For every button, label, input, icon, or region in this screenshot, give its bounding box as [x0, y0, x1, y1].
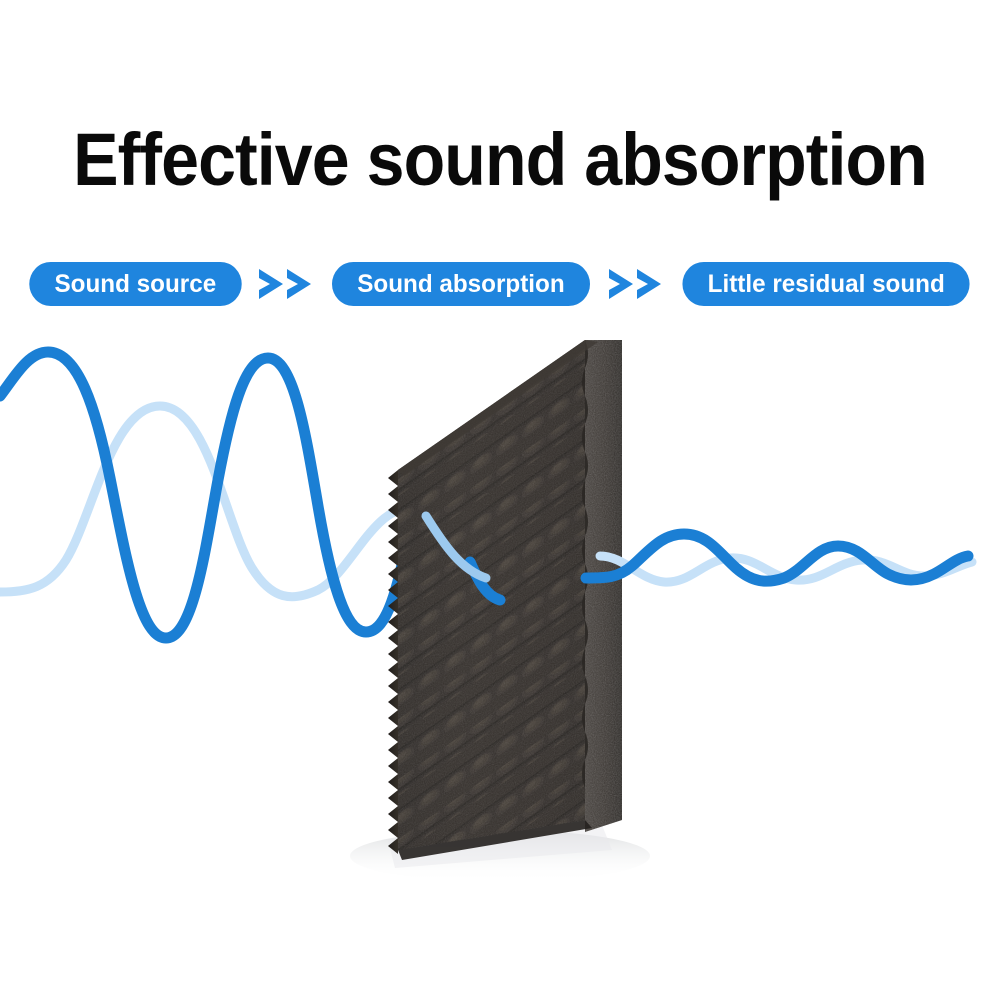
badge-little-residual-sound-label: Little residual sound [707, 262, 944, 306]
process-flow-row: Sound source Sound absorption Little res… [26, 260, 974, 308]
sound-absorption-infographic: Effective sound absorption Sound source … [0, 0, 1000, 1000]
badge-sound-absorption-label: Sound absorption [357, 262, 564, 306]
badge-sound-source[interactable]: Sound source [29, 262, 241, 306]
badge-little-residual-sound[interactable]: Little residual sound [682, 262, 970, 306]
badge-sound-absorption[interactable]: Sound absorption [332, 262, 590, 306]
absorption-illustration [0, 320, 1000, 920]
double-chevron-right-icon [256, 266, 316, 302]
outgoing-waves [586, 534, 972, 582]
double-chevron-right-icon-2 [606, 266, 666, 302]
badge-sound-source-label: Sound source [55, 262, 217, 306]
panel-left-sawtooth-edge [388, 470, 398, 854]
page-title: Effective sound absorption [40, 118, 960, 202]
